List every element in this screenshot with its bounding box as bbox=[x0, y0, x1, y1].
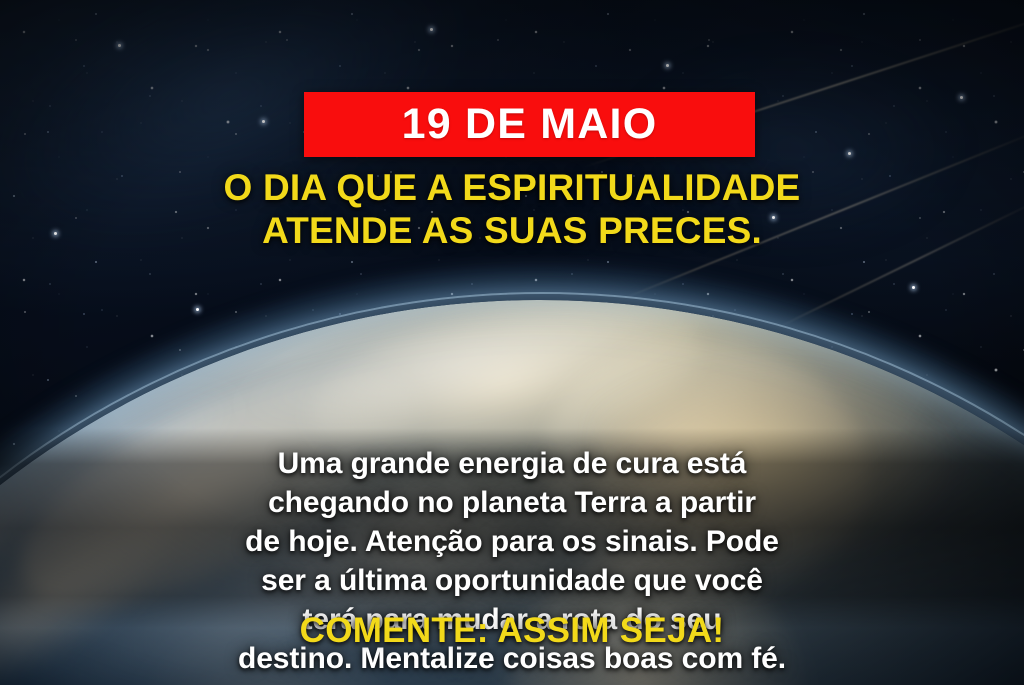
body-line-1: Uma grande energia de cura está bbox=[52, 444, 972, 483]
body-line-2: chegando no planeta Terra a partir bbox=[52, 483, 972, 522]
poster-canvas: 19 DE MAIO O DIA QUE A ESPIRITUALIDADE A… bbox=[0, 0, 1024, 685]
poster-content: 19 DE MAIO O DIA QUE A ESPIRITUALIDADE A… bbox=[0, 0, 1024, 685]
call-to-action: COMENTE: ASSIM SEJA! bbox=[52, 612, 972, 651]
headline: O DIA QUE A ESPIRITUALIDADE ATENDE AS SU… bbox=[50, 166, 974, 253]
date-banner: 19 DE MAIO bbox=[304, 92, 755, 157]
body-line-4: ser a última oportunidade que você bbox=[52, 561, 972, 600]
headline-line-1: O DIA QUE A ESPIRITUALIDADE bbox=[50, 166, 974, 209]
body-line-3: de hoje. Atenção para os sinais. Pode bbox=[52, 522, 972, 561]
date-banner-label: 19 DE MAIO bbox=[402, 103, 658, 146]
headline-line-2: ATENDE AS SUAS PRECES. bbox=[50, 209, 974, 252]
